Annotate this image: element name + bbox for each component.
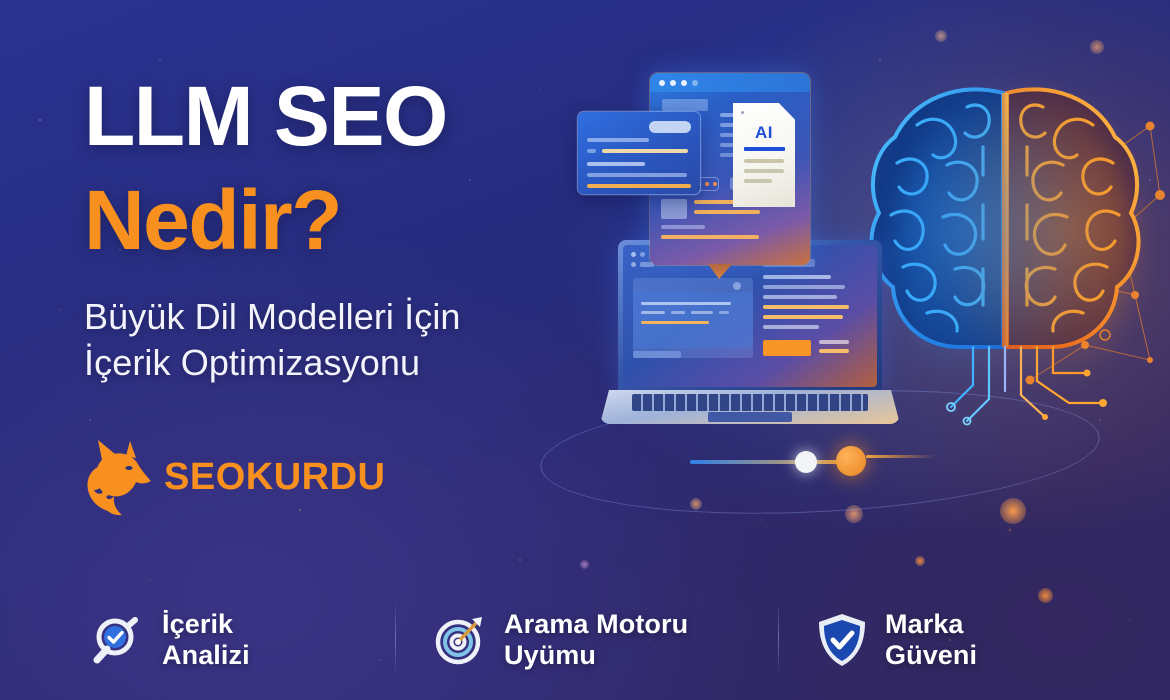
shield-check-icon (815, 611, 869, 669)
laptop-trackpad (708, 412, 792, 422)
neural-network-nodes (1000, 80, 1170, 410)
orbit-line (537, 377, 1103, 526)
feature-label-line2: Güveni (885, 640, 977, 671)
glow-particle (690, 498, 702, 510)
window-dot-icon (681, 80, 687, 86)
page-title-line1: LLM SEO (84, 78, 447, 155)
laptop-keyboard (632, 394, 868, 411)
feature-item-icerik-analizi[interactable]: İçerik Analizi (0, 580, 395, 700)
split-brain-illustration (855, 55, 1155, 445)
laptop-screen (623, 245, 877, 387)
feature-label: Marka Güveni (885, 609, 977, 672)
card-pill (649, 121, 691, 133)
brand-logo-text-kurdu: KURDU (246, 456, 386, 498)
glow-particle (1000, 498, 1026, 524)
brand-logo-text-seo: SEO (164, 456, 246, 498)
fox-head-icon (82, 438, 152, 516)
glow-particle (580, 560, 589, 569)
glow-particle (1090, 40, 1104, 54)
orb-connector-line (690, 460, 850, 464)
glow-particle (915, 556, 925, 566)
laptop-lid (618, 240, 882, 392)
feature-label-line1: Marka (885, 609, 977, 640)
glow-orb-white (795, 451, 817, 473)
feature-label-line2: Uyümu (504, 640, 688, 671)
feature-label-line1: İçerik (162, 609, 250, 640)
ai-document-card: AI (733, 103, 795, 207)
window-dot-icon (670, 80, 676, 86)
content-card (578, 112, 700, 194)
ai-document-label: AI (733, 123, 795, 143)
browser-window-mockup (650, 73, 810, 265)
brand-logo-text: SEOKURDU (164, 458, 385, 496)
laptop-illustration (600, 240, 900, 440)
page-title-line2: Nedir? (84, 182, 341, 259)
feature-bar: İçerik Analizi Arama Motoru Uyümu (0, 580, 1170, 700)
feature-label-line1: Arama Motoru (504, 609, 688, 640)
feature-item-marka-guveni[interactable]: Marka Güveni (778, 580, 1170, 700)
magnifier-check-icon (90, 612, 146, 668)
window-dot-icon (692, 80, 698, 86)
banner-root: AI LLM SEO Nedir? Büyük Dil Modelleri İç… (0, 0, 1170, 700)
glow-orb-orange (836, 446, 866, 476)
feature-label: İçerik Analizi (162, 609, 250, 672)
subtitle-line-2: İçerik Optimizasyonu (84, 340, 461, 386)
brain-glow (895, 85, 1135, 405)
laptop-base (600, 390, 900, 424)
brand-logo[interactable]: SEOKURDU (82, 438, 385, 516)
orb-connector-line (866, 455, 936, 458)
glow-particle (845, 505, 863, 523)
subtitle-line-1: Büyük Dil Modelleri İçin (84, 294, 461, 340)
feature-item-arama-motoru-uyumu[interactable]: Arama Motoru Uyümu (395, 580, 778, 700)
glow-particle (935, 30, 947, 42)
target-arrow-icon (432, 612, 488, 668)
speech-bubble-tail (708, 264, 732, 279)
page-subtitle: Büyük Dil Modelleri İçin İçerik Optimiza… (84, 294, 461, 386)
window-dot-icon (659, 80, 665, 86)
ai-document-rule (744, 147, 785, 151)
feature-label: Arama Motoru Uyümu (504, 609, 688, 672)
browser-titlebar (650, 73, 810, 92)
feature-label-line2: Analizi (162, 640, 250, 671)
